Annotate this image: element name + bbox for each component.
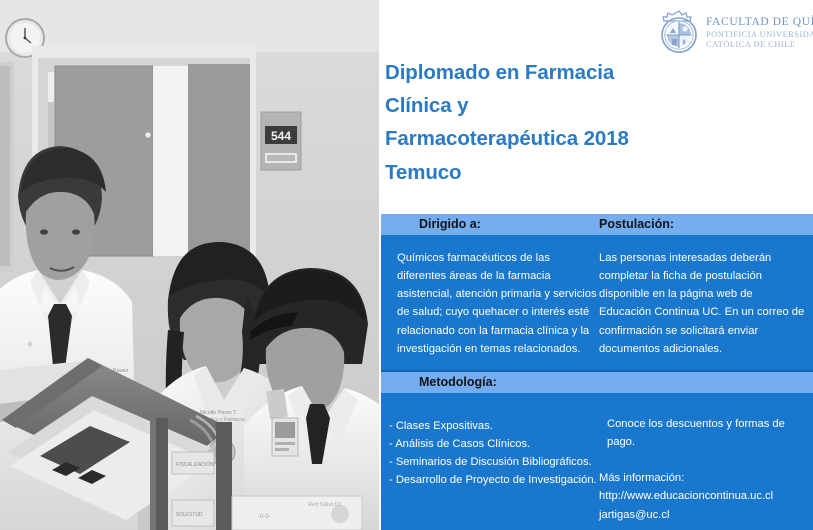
uc-faculty-crest-icon bbox=[658, 9, 700, 55]
logo-wordmark: FACULTAD DE QUÍMICA PONTIFICIA UNIVERSID… bbox=[706, 14, 813, 49]
contact-block: Conoce los descuentos y formas de pago. … bbox=[599, 415, 813, 524]
list-item: - Seminarios de Discusión Bibliográficos… bbox=[389, 453, 601, 471]
course-photo: 544 Q.F. Camilo Pavez Farmacia Clínica bbox=[0, 0, 379, 530]
list-metodologia: - Clases Expositivas. - Análisis de Caso… bbox=[389, 417, 601, 490]
list-item: - Clases Expositivas. bbox=[389, 417, 601, 435]
svg-text:FISCALIZACIÓN: FISCALIZACIÓN bbox=[176, 461, 214, 468]
text-dirigido-a: Químicos farmacéuticos de las diferentes… bbox=[397, 249, 597, 358]
svg-text:SOLICITUD: SOLICITUD bbox=[176, 512, 203, 518]
email-link[interactable]: jartigas@uc.cl bbox=[599, 506, 813, 524]
heading-dirigido-a: Dirigido a: bbox=[419, 217, 481, 231]
heading-metodologia: Metodología: bbox=[419, 375, 497, 389]
website-link[interactable]: http://www.educacioncontinua.uc.cl bbox=[599, 487, 813, 505]
institution-logo: FACULTAD DE QUÍMICA PONTIFICIA UNIVERSID… bbox=[658, 8, 808, 56]
page-title: Diplomado en Farmacia Clínica y Farmacot… bbox=[385, 56, 685, 189]
svg-text:Nicolle Pérez T.: Nicolle Pérez T. bbox=[200, 410, 237, 416]
section-header-band-bottom: Metodología: bbox=[381, 372, 813, 393]
svg-text:Red Salud UC: Red Salud UC bbox=[308, 502, 343, 508]
section-body-bottom: - Clases Expositivas. - Análisis de Caso… bbox=[381, 393, 813, 530]
logo-line-country: CATÓLICA DE CHILE bbox=[706, 40, 813, 50]
discount-note: Conoce los descuentos y formas de pago. bbox=[599, 415, 813, 451]
section-body-top: Químicos farmacéuticos de las diferentes… bbox=[381, 235, 813, 372]
title-line-2: Clínica y bbox=[385, 89, 685, 122]
title-line-4: Temuco bbox=[385, 156, 685, 189]
svg-text:-0-0-: -0-0- bbox=[258, 514, 271, 520]
more-info-label: Más información: bbox=[599, 469, 813, 487]
poster-canvas: 544 Q.F. Camilo Pavez Farmacia Clínica bbox=[0, 0, 813, 530]
title-line-1: Diplomado en Farmacia bbox=[385, 56, 685, 89]
title-line-3: Farmacoterapéutica 2018 bbox=[385, 122, 685, 155]
heading-postulacion: Postulación: bbox=[599, 217, 674, 231]
list-item: - Desarrollo de Proyecto de Investigació… bbox=[389, 471, 601, 489]
svg-text:544: 544 bbox=[271, 129, 291, 143]
right-content-column: FACULTAD DE QUÍMICA PONTIFICIA UNIVERSID… bbox=[379, 0, 813, 530]
logo-line-university: PONTIFICIA UNIVERSIDAD bbox=[706, 30, 813, 40]
list-item: - Análisis de Casos Clínicos. bbox=[389, 435, 601, 453]
section-header-band-top: Dirigido a: Postulación: bbox=[381, 214, 813, 235]
text-postulacion: Las personas interesadas deberán complet… bbox=[599, 249, 807, 358]
photo-illustration: 544 Q.F. Camilo Pavez Farmacia Clínica bbox=[0, 0, 379, 530]
logo-line-faculty: FACULTAD DE QUÍMICA bbox=[706, 16, 813, 30]
